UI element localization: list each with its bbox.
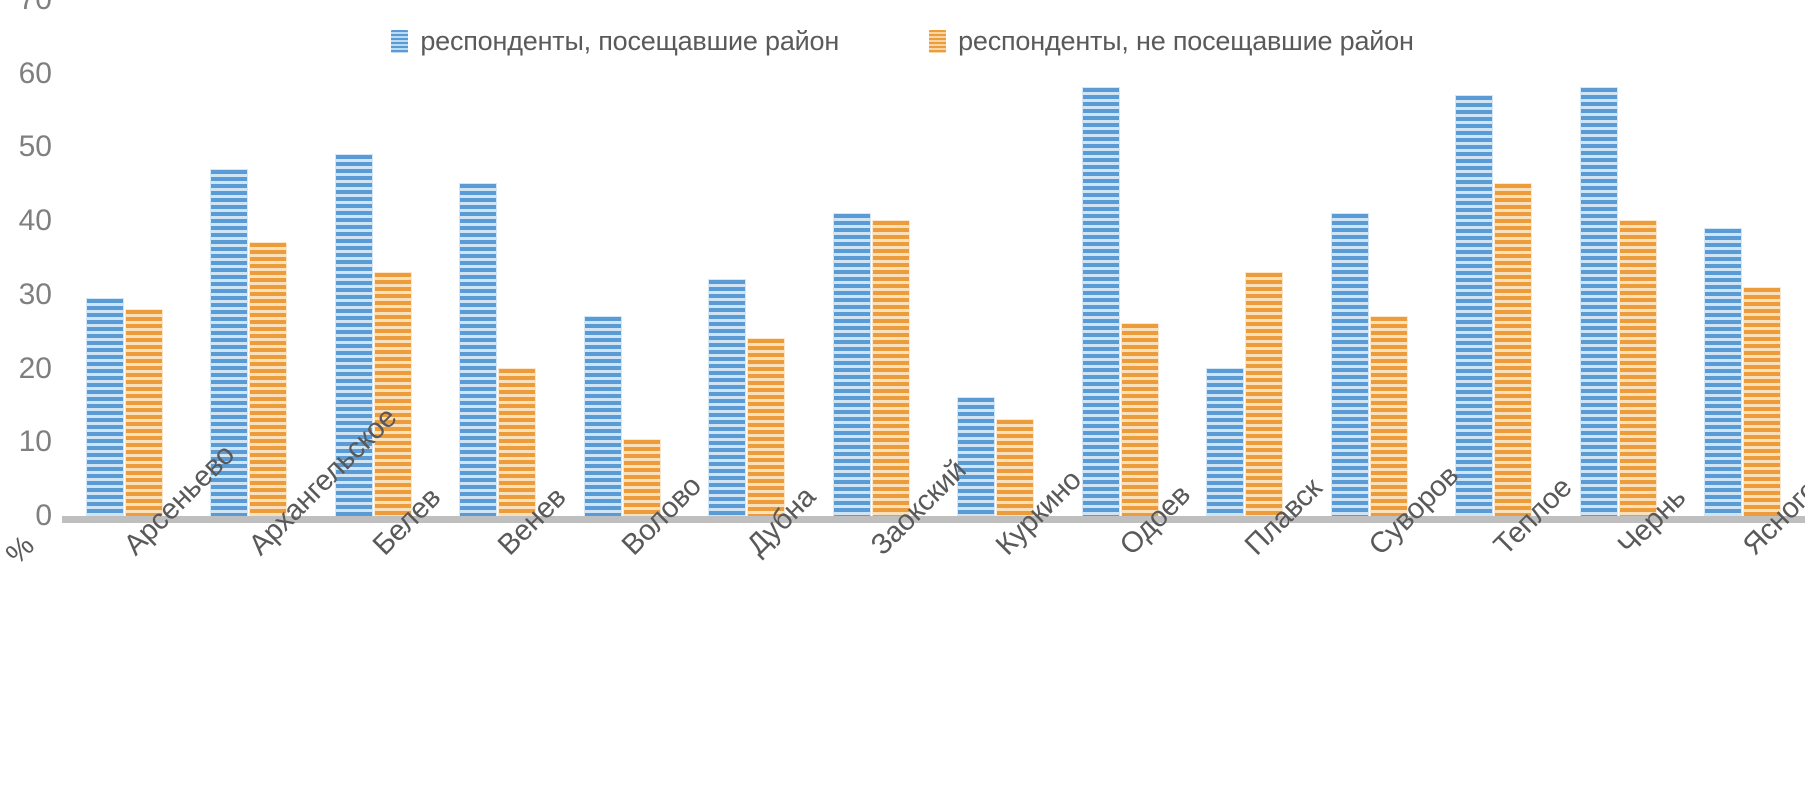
bar-not-visited[interactable] xyxy=(1495,184,1531,516)
x-axis-slot: Дубна xyxy=(685,523,810,790)
bar-visited[interactable] xyxy=(1456,96,1492,516)
bar-not-visited[interactable] xyxy=(375,273,411,516)
bar-group xyxy=(685,0,810,516)
bar-group xyxy=(62,0,187,516)
bar-group xyxy=(1183,0,1308,516)
bar-not-visited[interactable] xyxy=(1122,324,1158,516)
y-axis-tick: 70 xyxy=(19,0,52,15)
x-axis-slot: Ясногорск xyxy=(1681,523,1805,790)
x-axis-slot: Волово xyxy=(560,523,685,790)
bar-visited[interactable] xyxy=(1332,214,1368,516)
bar-not-visited[interactable] xyxy=(250,243,286,516)
y-axis-tick: 0 xyxy=(35,501,52,531)
x-axis-slot: Белев xyxy=(311,523,436,790)
bar-group xyxy=(1307,0,1432,516)
bar-not-visited[interactable] xyxy=(873,221,909,516)
bar-chart: респонденты, посещавшие районреспонденты… xyxy=(0,0,1805,790)
bar-visited[interactable] xyxy=(585,317,621,516)
bar-group xyxy=(1556,0,1681,516)
bar-group xyxy=(934,0,1059,516)
bar-group xyxy=(1681,0,1805,516)
bar-visited[interactable] xyxy=(834,214,870,516)
y-axis-tick: 50 xyxy=(19,132,52,162)
x-axis-slot: Венев xyxy=(436,523,561,790)
bar-not-visited[interactable] xyxy=(1371,317,1407,516)
plot-area xyxy=(62,0,1805,516)
x-axis-slot: Заокский xyxy=(809,523,934,790)
bar-visited[interactable] xyxy=(1083,88,1119,516)
x-axis-slot: Плавск xyxy=(1183,523,1308,790)
bar-not-visited[interactable] xyxy=(1246,273,1282,516)
y-axis-tick: 40 xyxy=(19,206,52,236)
x-axis-slot: Арсеньево xyxy=(62,523,187,790)
bar-not-visited[interactable] xyxy=(748,339,784,516)
bar-group xyxy=(1432,0,1557,516)
x-axis-slot: Чернь xyxy=(1556,523,1681,790)
bar-not-visited[interactable] xyxy=(1744,288,1780,517)
x-axis-slot: Куркино xyxy=(934,523,1059,790)
bar-visited[interactable] xyxy=(460,184,496,516)
bar-not-visited[interactable] xyxy=(1620,221,1656,516)
bar-visited[interactable] xyxy=(709,280,745,516)
bar-group xyxy=(187,0,312,516)
y-axis: 706050403020100 xyxy=(0,0,60,540)
y-axis-tick: 20 xyxy=(19,354,52,384)
bar-group xyxy=(436,0,561,516)
bar-group xyxy=(560,0,685,516)
bar-visited[interactable] xyxy=(1705,229,1741,516)
bar-group xyxy=(809,0,934,516)
bar-group xyxy=(1058,0,1183,516)
x-axis-labels: АрсеньевоАрхангельскоеБелевВеневВоловоДу… xyxy=(62,523,1805,790)
x-axis-slot: Одоев xyxy=(1058,523,1183,790)
bar-visited[interactable] xyxy=(1581,88,1617,516)
bar-not-visited[interactable] xyxy=(499,369,535,516)
bar-not-visited[interactable] xyxy=(126,310,162,516)
bar-visited[interactable] xyxy=(958,398,994,516)
bar-visited[interactable] xyxy=(87,299,123,516)
y-axis-tick: 10 xyxy=(19,427,52,457)
y-axis-tick: 60 xyxy=(19,59,52,89)
bar-visited[interactable] xyxy=(1207,369,1243,516)
x-axis-slot: Суворов xyxy=(1307,523,1432,790)
x-axis-slot: Архангельское xyxy=(187,523,312,790)
y-axis-tick: 30 xyxy=(19,280,52,310)
bar-groups xyxy=(62,0,1805,516)
x-axis-slot: Теплое xyxy=(1432,523,1557,790)
